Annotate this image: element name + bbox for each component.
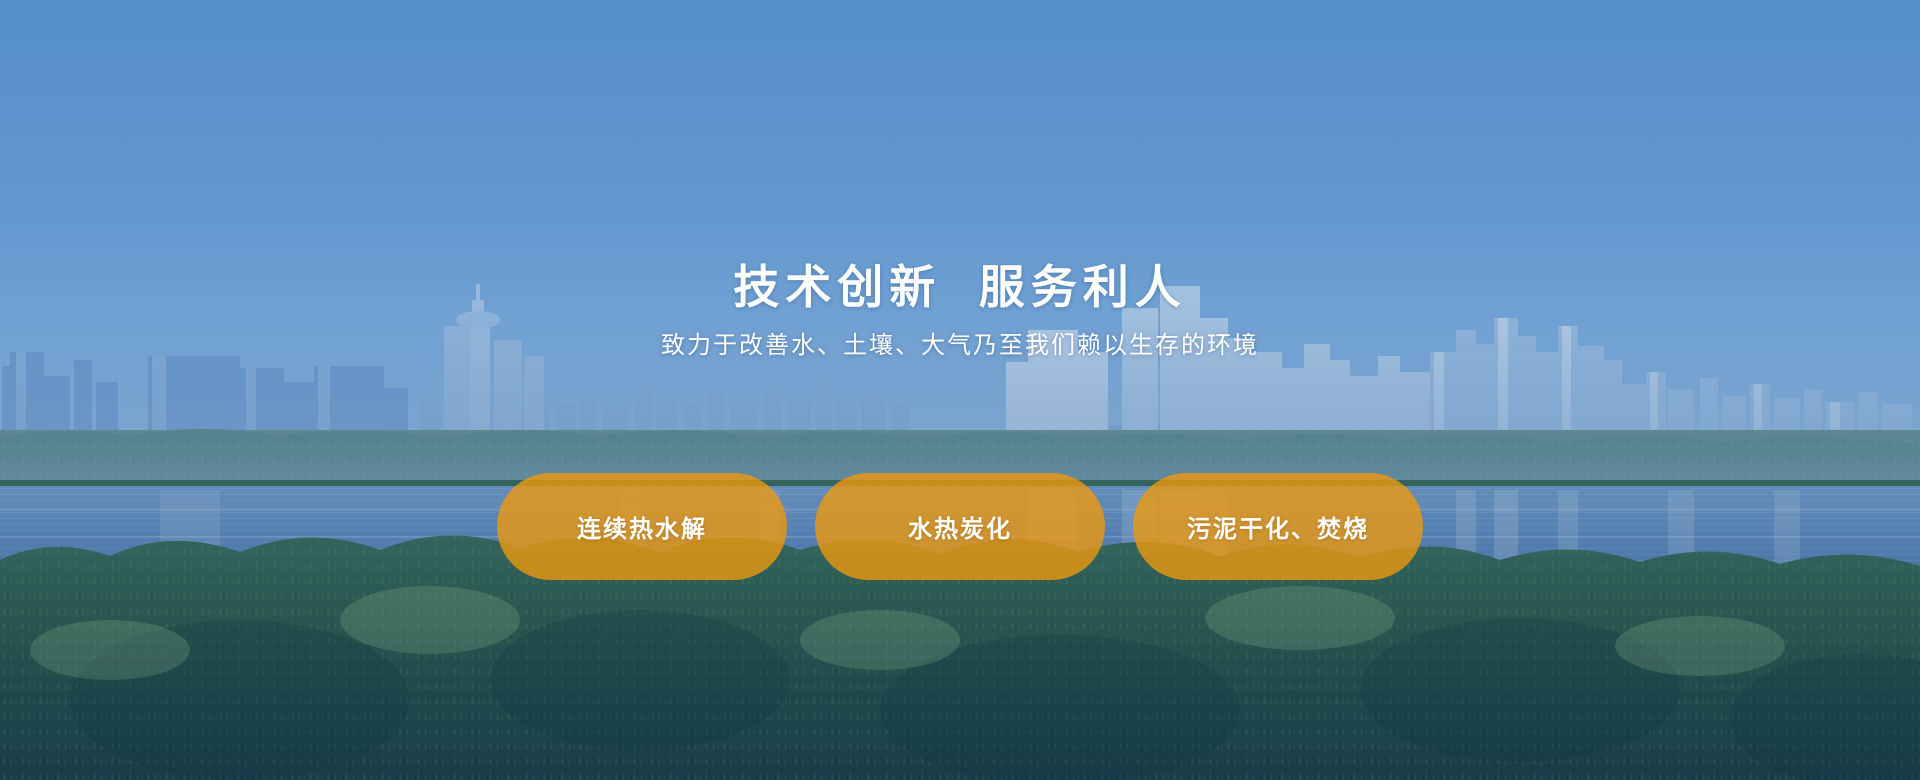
cta-button-label: 污泥干化、焚烧 [1187, 509, 1369, 544]
page-title: 技术创新 服务利人 [0, 262, 1920, 314]
cta-button-hydrothermal-carbonization[interactable]: 水热炭化 [815, 473, 1105, 580]
cta-button-label: 水热炭化 [908, 509, 1012, 544]
cta-button-continuous-thermal-hydrolysis[interactable]: 连续热水解 [497, 473, 787, 580]
cta-button-row: 连续热水解 水热炭化 污泥干化、焚烧 [0, 473, 1920, 580]
cta-button-label: 连续热水解 [577, 509, 707, 544]
background-scene [0, 0, 1920, 780]
cta-button-sludge-drying-incineration[interactable]: 污泥干化、焚烧 [1133, 473, 1423, 580]
page-subtitle: 致力于改善水、土壤、大气乃至我们赖以生存的环境 [0, 330, 1920, 361]
hero-copy-block: 技术创新 服务利人 致力于改善水、土壤、大气乃至我们赖以生存的环境 [0, 262, 1920, 361]
hero-banner: 技术创新 服务利人 致力于改善水、土壤、大气乃至我们赖以生存的环境 连续热水解 … [0, 0, 1920, 780]
